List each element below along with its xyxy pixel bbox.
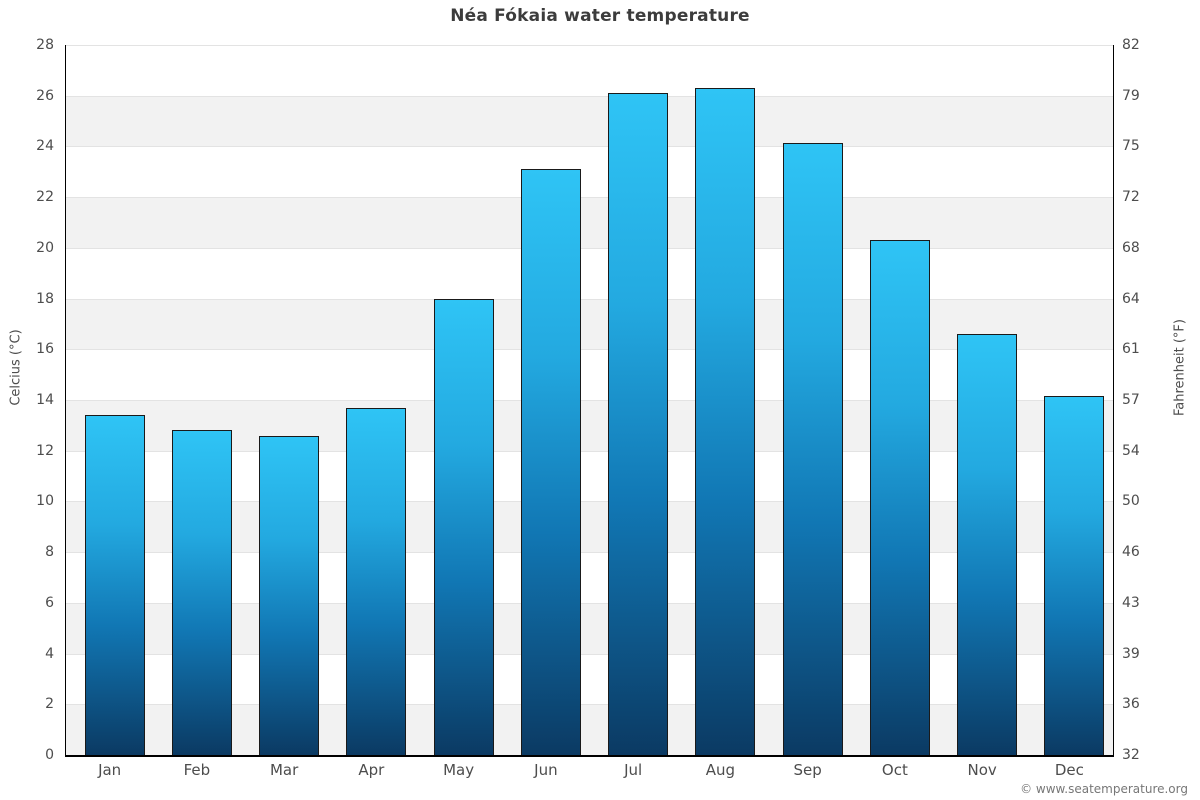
bar-dec: [1044, 396, 1104, 755]
x-tick-label-aug: Aug: [677, 763, 764, 778]
right-tick-label: 54: [1122, 444, 1162, 458]
left-tick-label: 8: [2, 545, 54, 559]
grid-line: [66, 146, 1113, 147]
x-tick-label-sep: Sep: [764, 763, 851, 778]
right-tick-label: 75: [1122, 139, 1162, 153]
grid-band: [66, 299, 1113, 350]
right-tick-label: 72: [1122, 190, 1162, 204]
bar-jun: [521, 169, 581, 755]
left-tick-label: 26: [2, 89, 54, 103]
plot-area: [66, 45, 1113, 755]
grid-line: [66, 96, 1113, 97]
left-axis-title: Celcius (°C): [9, 308, 24, 428]
bottom-axis-line: [65, 755, 1114, 757]
bar-oct: [870, 240, 930, 755]
x-tick-label-dec: Dec: [1026, 763, 1113, 778]
right-tick-label: 68: [1122, 241, 1162, 255]
right-tick-label: 36: [1122, 697, 1162, 711]
bar-feb: [172, 430, 232, 755]
left-tick-label: 28: [2, 38, 54, 52]
right-tick-label: 50: [1122, 494, 1162, 508]
right-tick-label: 57: [1122, 393, 1162, 407]
x-tick-label-mar: Mar: [241, 763, 328, 778]
left-tick-label: 24: [2, 139, 54, 153]
x-tick-label-apr: Apr: [328, 763, 415, 778]
x-tick-label-feb: Feb: [153, 763, 240, 778]
right-tick-label: 82: [1122, 38, 1162, 52]
right-tick-label: 46: [1122, 545, 1162, 559]
right-tick-label: 64: [1122, 292, 1162, 306]
left-tick-label: 2: [2, 697, 54, 711]
bar-apr: [346, 408, 406, 755]
x-tick-label-jan: Jan: [66, 763, 153, 778]
right-tick-label: 43: [1122, 596, 1162, 610]
grid-line: [66, 349, 1113, 350]
grid-line: [66, 400, 1113, 401]
x-tick-label-oct: Oct: [851, 763, 938, 778]
right-tick-label: 79: [1122, 89, 1162, 103]
x-tick-label-jun: Jun: [502, 763, 589, 778]
right-tick-label: 32: [1122, 748, 1162, 762]
water-temperature-chart: Néa Fókaia water temperature 02468101214…: [0, 0, 1200, 800]
left-axis-line: [65, 45, 66, 756]
bar-jan: [85, 415, 145, 755]
source-credit: © www.seatemperature.org: [1020, 782, 1188, 796]
grid-band: [66, 96, 1113, 147]
left-tick-label: 12: [2, 444, 54, 458]
bar-nov: [957, 334, 1017, 755]
x-tick-label-jul: Jul: [590, 763, 677, 778]
right-axis-line: [1113, 45, 1114, 756]
x-tick-label-may: May: [415, 763, 502, 778]
left-tick-label: 20: [2, 241, 54, 255]
grid-line: [66, 248, 1113, 249]
right-tick-label: 61: [1122, 342, 1162, 356]
grid-line: [66, 197, 1113, 198]
bar-mar: [259, 436, 319, 756]
bar-aug: [695, 88, 755, 755]
left-tick-label: 0: [2, 748, 54, 762]
left-tick-label: 18: [2, 292, 54, 306]
bar-may: [434, 299, 494, 755]
grid-line: [66, 45, 1113, 46]
bar-sep: [783, 143, 843, 755]
bar-jul: [608, 93, 668, 755]
grid-band: [66, 197, 1113, 248]
left-tick-label: 22: [2, 190, 54, 204]
left-tick-label: 6: [2, 596, 54, 610]
right-axis-title: Fahrenheit (°F): [1173, 298, 1188, 438]
right-tick-label: 39: [1122, 647, 1162, 661]
x-tick-label-nov: Nov: [939, 763, 1026, 778]
left-tick-label: 10: [2, 494, 54, 508]
left-tick-label: 4: [2, 647, 54, 661]
chart-title: Néa Fókaia water temperature: [0, 6, 1200, 26]
grid-line: [66, 299, 1113, 300]
